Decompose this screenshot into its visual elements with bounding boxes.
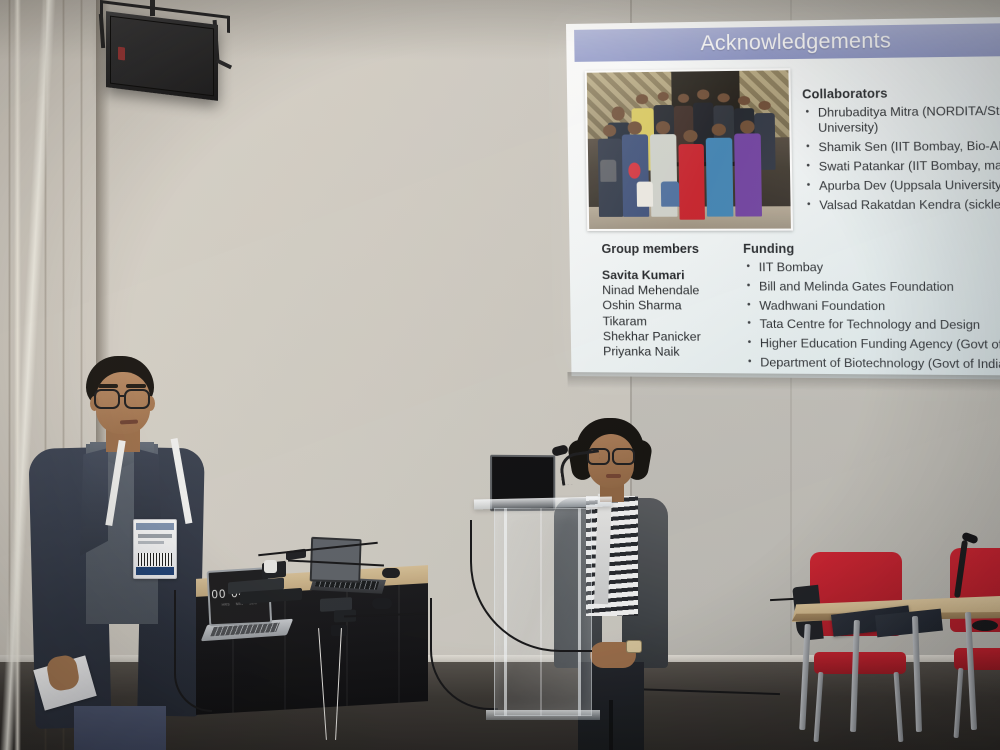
funding-item: Bill and Melinda Gates Foundation	[744, 279, 1000, 295]
group-members-heading: Group members	[591, 242, 743, 256]
funding-item: Department of Biotechnology (Govt of Ind…	[745, 355, 1000, 373]
av-device	[331, 625, 347, 636]
group-photo	[585, 68, 793, 231]
group-members-block: Group members Savita Kumari Ninad Mehend…	[591, 242, 744, 361]
collaborator-item: Valsad Rakatdan Kendra (sickle cell d	[804, 197, 1000, 214]
computer-mouse[interactable]	[382, 568, 400, 578]
power-adapter	[264, 560, 277, 573]
collaborator-item: Swati Patankar (IIT Bombay, malaria)	[803, 158, 1000, 175]
collaborator-item: Dhrubaditya Mitra (NORDITA/Stockho Unive…	[802, 103, 1000, 137]
conference-badge	[133, 519, 177, 579]
funding-item: Tata Centre for Technology and Design	[744, 317, 1000, 334]
collaborators-heading: Collaborators	[802, 85, 1000, 102]
funding-block: Funding IIT Bombay Bill and Melinda Gate…	[743, 241, 1000, 376]
computer-mouse[interactable]	[372, 598, 392, 609]
group-member-item: Savita Kumari	[592, 268, 744, 283]
funding-item: IIT Bombay	[743, 260, 1000, 276]
group-member-item: Ninad Mehendale	[592, 283, 744, 299]
collaborator-item: Shamik Sen (IIT Bombay, Bio-AFM)	[803, 139, 1000, 156]
eyeglasses	[94, 389, 120, 409]
funding-item: Higher Education Funding Agency (Govt of…	[744, 336, 1000, 353]
collaborators-block: Collaborators Dhrubaditya Mitra (NORDITA…	[802, 85, 1000, 217]
eyeglasses	[612, 448, 635, 465]
group-member-item: Tikaram	[593, 314, 745, 330]
projected-slide: Acknowledgements	[566, 17, 1000, 380]
funding-heading: Funding	[743, 241, 1000, 256]
slide-title-bar: Acknowledgements	[574, 23, 1000, 62]
collaborator-item: Apurba Dev (Uppsala University)	[803, 177, 1000, 194]
eyeglasses	[124, 389, 150, 409]
conference-room-photo: Acknowledgements	[0, 0, 1000, 750]
group-member-item: Oshin Sharma	[592, 299, 744, 315]
slide-title: Acknowledgements	[700, 29, 891, 56]
funding-item: Wadhwani Foundation	[744, 298, 1000, 315]
group-member-item: Shekhar Panicker	[593, 329, 745, 345]
table-device	[972, 620, 998, 631]
group-member-item: Priyanka Naik	[593, 344, 745, 360]
cable	[174, 590, 212, 712]
wristwatch	[626, 640, 642, 653]
wooden-table	[792, 596, 1000, 746]
slide-canvas: Acknowledgements	[566, 17, 1000, 380]
timer-label-hours: HRS	[222, 602, 230, 606]
